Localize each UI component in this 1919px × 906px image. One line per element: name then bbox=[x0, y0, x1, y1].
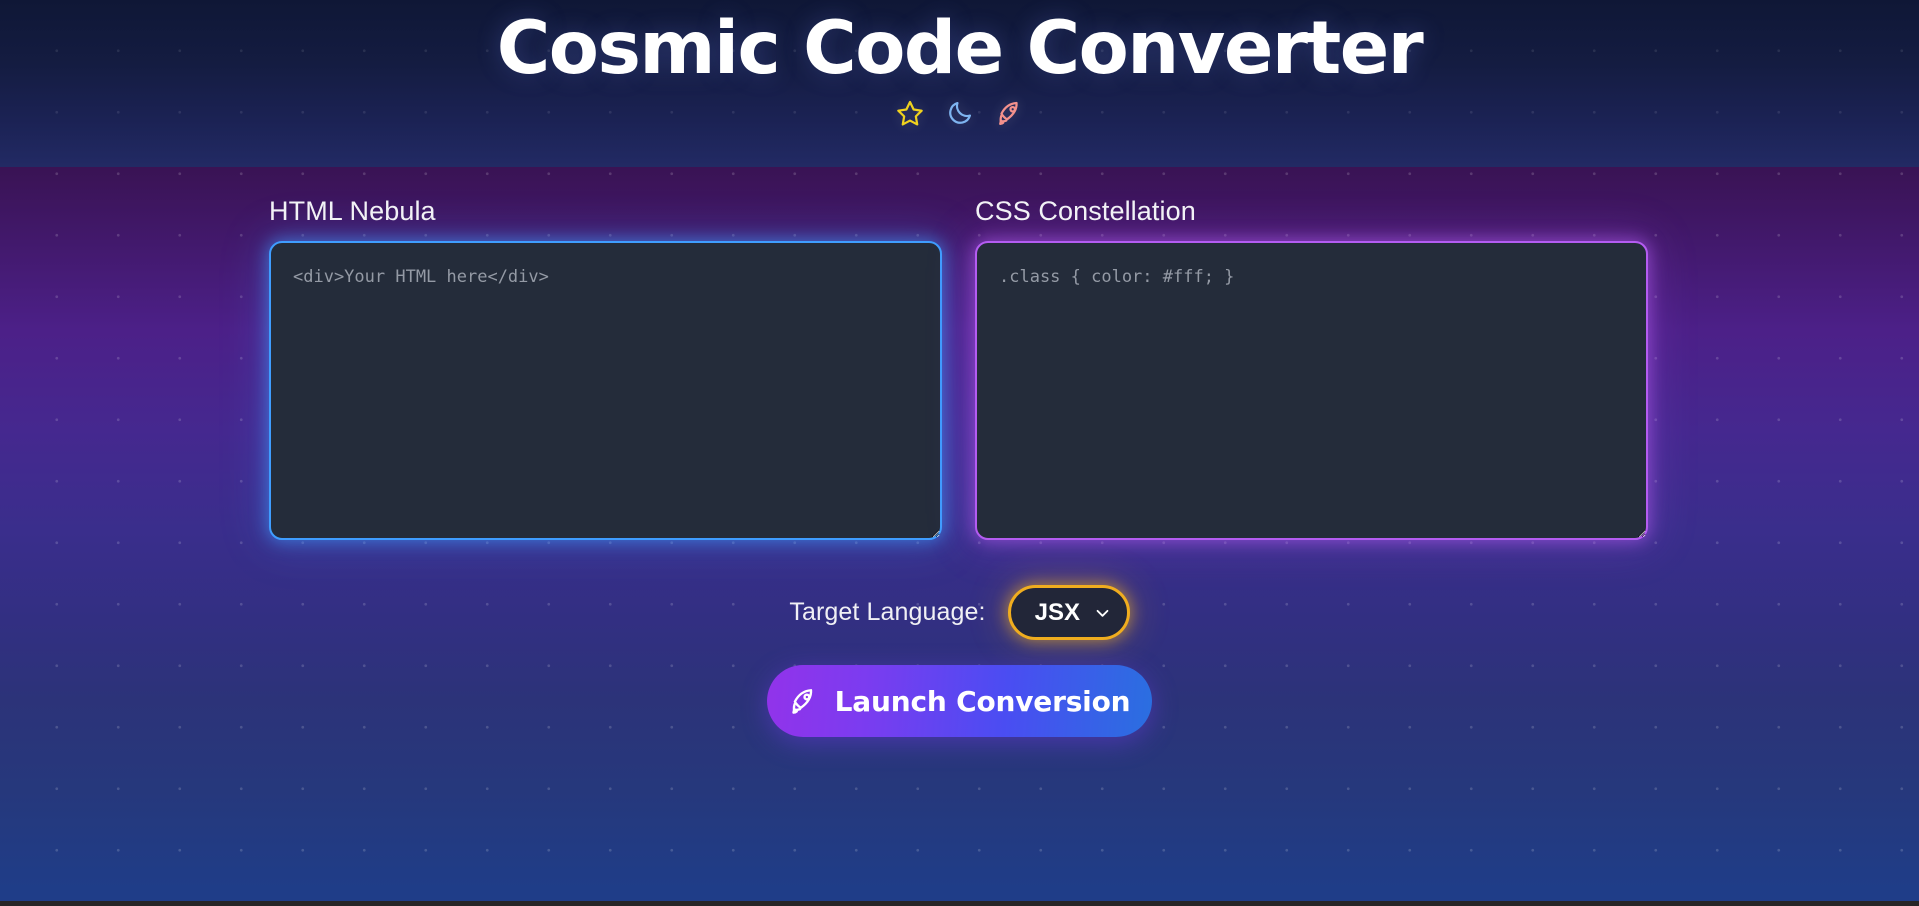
rocket-icon bbox=[996, 99, 1024, 127]
html-panel: HTML Nebula bbox=[269, 198, 942, 540]
moon-icon bbox=[946, 99, 974, 127]
css-panel: CSS Constellation bbox=[975, 198, 1648, 540]
launch-row: Launch Conversion bbox=[0, 665, 1919, 737]
css-input[interactable] bbox=[975, 241, 1648, 540]
app-root: Cosmic Code Converter HTML Nebula CSS Co… bbox=[0, 0, 1919, 906]
launch-conversion-button[interactable]: Launch Conversion bbox=[767, 665, 1152, 737]
title-icon-row bbox=[0, 99, 1919, 127]
editor-panels: HTML Nebula CSS Constellation bbox=[269, 198, 1649, 540]
target-language-label: Target Language: bbox=[789, 598, 985, 627]
css-panel-label: CSS Constellation bbox=[975, 198, 1648, 225]
launch-button-label: Launch Conversion bbox=[835, 685, 1131, 718]
html-input[interactable] bbox=[269, 241, 942, 540]
target-language-select[interactable]: JSX bbox=[1008, 585, 1130, 640]
page-header: Cosmic Code Converter bbox=[0, 0, 1919, 167]
rocket-icon bbox=[789, 686, 819, 716]
language-select-wrapper: JSX bbox=[1008, 585, 1130, 640]
html-panel-label: HTML Nebula bbox=[269, 198, 942, 225]
window-bottom-edge bbox=[0, 901, 1919, 906]
star-icon bbox=[896, 99, 924, 127]
page-title: Cosmic Code Converter bbox=[0, 8, 1919, 90]
target-language-row: Target Language: JSX bbox=[0, 585, 1919, 640]
